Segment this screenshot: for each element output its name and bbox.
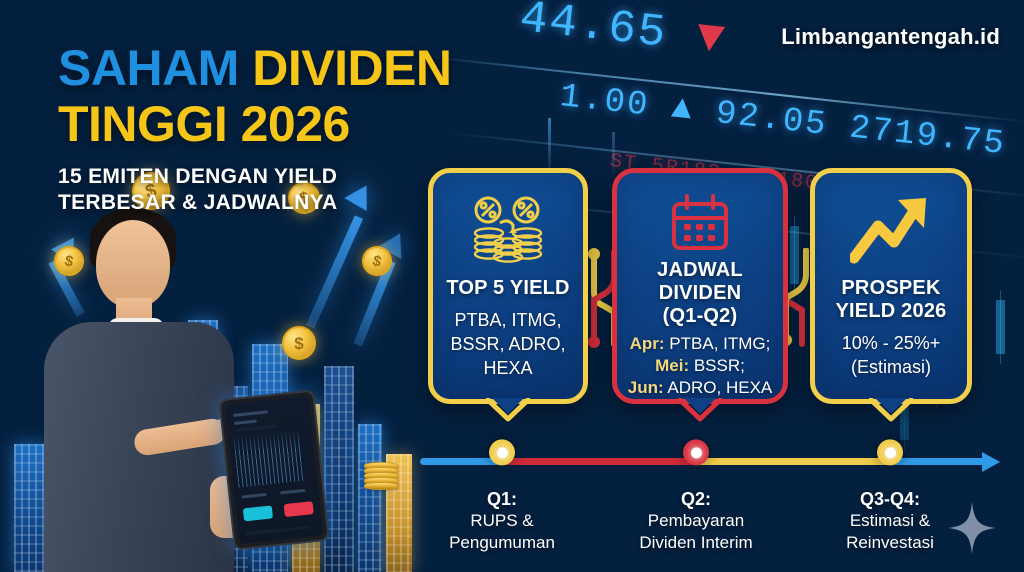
timeline-q3q4-desc1: Estimasi & — [850, 511, 930, 530]
ticker-row-1: 44.65 ▼ — [517, 0, 729, 66]
card2-title-line1: JADWAL — [657, 259, 743, 282]
card3-title: PROSPEK YIELD 2026 — [836, 277, 947, 323]
card2-body: Apr: PTBA, ITMG; Mei: BSSR; Jun: ADRO, H… — [622, 333, 779, 399]
background-candle — [996, 300, 1005, 354]
headline-block: SAHAM DIVIDEN TINGGI 2026 15 EMITEN DENG… — [58, 42, 452, 216]
timeline-node-q3q4[interactable] — [877, 439, 903, 465]
card-prospek-yield[interactable]: PROSPEK YIELD 2026 10% - 25%+ (Estimasi) — [810, 168, 972, 404]
subtitle: 15 EMITEN DENGAN YIELD TERBESAR & JADWAL… — [58, 164, 452, 216]
card3-body-line2: (Estimasi) — [842, 355, 941, 379]
timeline-q3q4-desc2: Reinvestasi — [846, 533, 934, 552]
card1-body: PTBA, ITMG, BSSR, ADRO, HEXA — [433, 308, 583, 380]
timeline-segment-red — [500, 458, 695, 465]
card2-title-line3: (Q1-Q2) — [657, 305, 743, 328]
tablet-screen — [225, 396, 323, 544]
timeline-q1-quarter: Q1: — [417, 488, 587, 510]
card1-tail — [486, 398, 530, 422]
title-word-saham: SAHAM — [58, 40, 252, 96]
card2-tail — [678, 398, 722, 422]
tablet-buy-button[interactable] — [243, 505, 274, 521]
presenter-person — [38, 172, 278, 572]
tablet-sell-button[interactable] — [283, 501, 314, 517]
title-word-dividen: DIVIDEN — [252, 40, 451, 96]
card3-body-line1: 10% - 25%+ — [842, 331, 941, 355]
infographic-canvas: ▼ 0.25 44.65 ▼ 1.00 ▲ 92.05 2719.75 ST 5… — [0, 0, 1024, 572]
timeline-segment-blue-left — [420, 458, 500, 465]
ticker-row-2: 1.00 ▲ 92.05 2719.75 — [558, 78, 1008, 164]
timeline-q2-desc1: Pembayaran — [648, 511, 744, 530]
card3-body: 10% - 25%+ (Estimasi) — [842, 331, 941, 379]
coin-stack — [364, 465, 398, 490]
floating-coin: $ — [282, 326, 316, 360]
coins-percent-icon — [469, 187, 547, 273]
card2-row-jun: Jun: ADRO, HEXA — [628, 377, 773, 399]
trending-up-arrow-icon — [850, 187, 932, 273]
subtitle-line-2: TERBESAR & JADWALNYA — [58, 190, 452, 216]
ticker-bar — [612, 132, 615, 178]
card2-row-apr: Apr: PTBA, ITMG; — [628, 333, 773, 355]
title-line-2: TINGGI 2026 — [58, 98, 452, 150]
timeline-segment-blue-right — [892, 458, 988, 465]
card-jadwal-dividen[interactable]: JADWAL DIVIDEN (Q1-Q2) Apr: PTBA, ITMG; … — [612, 168, 788, 404]
ticker-glass-line-1 — [430, 56, 1024, 123]
ticker-row-0: ▼ 0.25 — [598, 0, 706, 1]
timeline-label-q1: Q1: RUPS & Pengumuman — [417, 488, 587, 554]
calendar-icon — [670, 187, 730, 259]
timeline-node-q1[interactable] — [489, 439, 515, 465]
card3-tail — [869, 398, 913, 422]
timeline-segment-gold — [695, 458, 892, 465]
card2-title: JADWAL DIVIDEN (Q1-Q2) — [657, 259, 743, 328]
timeline-arrow-head — [982, 452, 1000, 472]
background-candle — [790, 226, 799, 284]
subtitle-line-1: 15 EMITEN DENGAN YIELD — [58, 164, 452, 190]
dividend-timeline: Q1: RUPS & Pengumuman Q2: Pembayaran Div… — [420, 448, 1008, 572]
card2-title-line2: DIVIDEN — [657, 282, 743, 305]
person-head — [96, 220, 170, 308]
timeline-q2-desc2: Dividen Interim — [639, 533, 752, 552]
timeline-label-q2: Q2: Pembayaran Dividen Interim — [611, 488, 781, 554]
card3-title-line2: YIELD 2026 — [836, 300, 947, 323]
card3-title-line1: PROSPEK — [836, 277, 947, 300]
card1-title: TOP 5 YIELD — [446, 277, 569, 300]
site-watermark: Limbangantengah.id — [781, 24, 1000, 50]
page-title: SAHAM DIVIDEN TINGGI 2026 — [58, 42, 452, 150]
timeline-q1-desc1: RUPS & — [470, 511, 533, 530]
building — [324, 366, 354, 572]
timeline-q1-desc2: Pengumuman — [449, 533, 555, 552]
card-top-5-yield[interactable]: TOP 5 YIELD PTBA, ITMG, BSSR, ADRO, HEXA — [428, 168, 588, 404]
tablet-chart — [233, 428, 305, 488]
timeline-node-q2[interactable] — [683, 439, 709, 465]
tablet-device — [218, 389, 329, 550]
timeline-q2-quarter: Q2: — [611, 488, 781, 510]
sparkle-icon — [948, 502, 996, 554]
card2-row-mei: Mei: BSSR; — [628, 355, 773, 377]
building — [358, 424, 382, 572]
